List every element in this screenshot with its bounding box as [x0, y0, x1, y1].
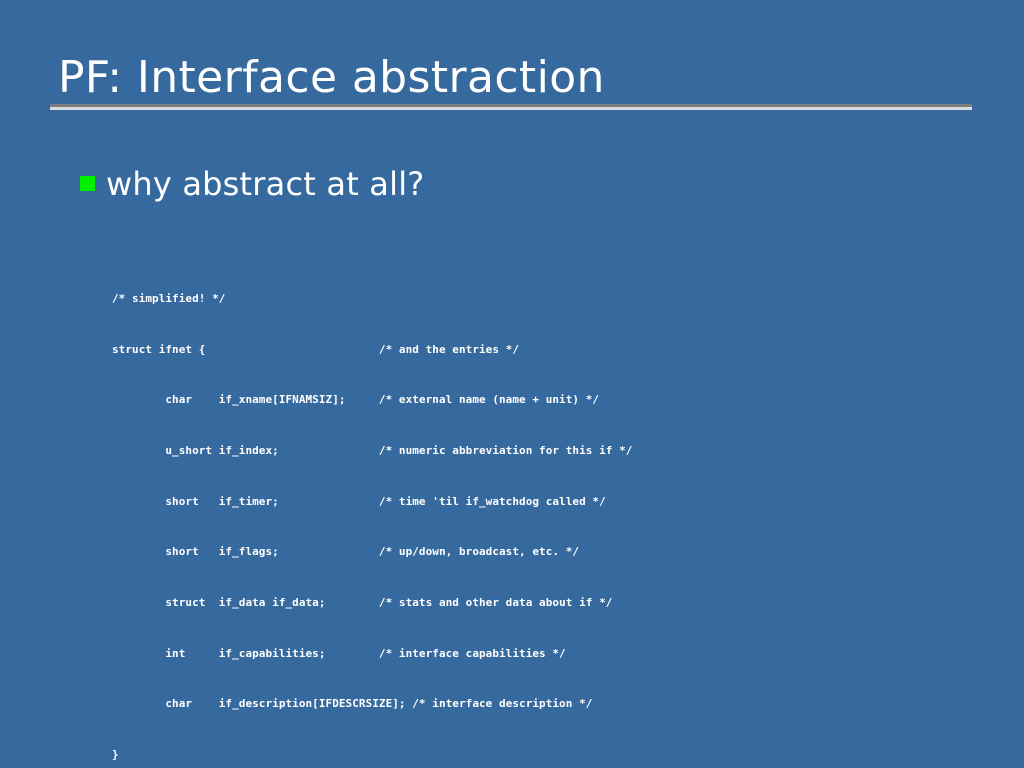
code-line: int if_capabilities; /* interface capabi…	[112, 646, 632, 663]
bullet-item-label: why abstract at all?	[106, 164, 424, 204]
presentation-slide: PF: Interface abstraction why abstract a…	[0, 0, 1024, 768]
code-line: short if_flags; /* up/down, broadcast, e…	[112, 544, 632, 561]
code-line: char if_xname[IFNAMSIZ]; /* external nam…	[112, 392, 632, 409]
page-title: PF: Interface abstraction	[58, 52, 605, 104]
code-block: /* simplified! */ struct ifnet { /* and …	[112, 257, 632, 768]
green-square-bullet-icon	[80, 176, 95, 191]
code-line: }	[112, 747, 632, 764]
code-line: u_short if_index; /* numeric abbreviatio…	[112, 443, 632, 460]
bullet-list-item: why abstract at all?	[80, 164, 424, 204]
title-underline-divider	[50, 104, 972, 110]
code-line: /* simplified! */	[112, 291, 632, 308]
code-line: struct ifnet { /* and the entries */	[112, 342, 632, 359]
code-line: char if_description[IFDESCRSIZE]; /* int…	[112, 696, 632, 713]
code-line: short if_timer; /* time 'til if_watchdog…	[112, 494, 632, 511]
code-line: struct if_data if_data; /* stats and oth…	[112, 595, 632, 612]
